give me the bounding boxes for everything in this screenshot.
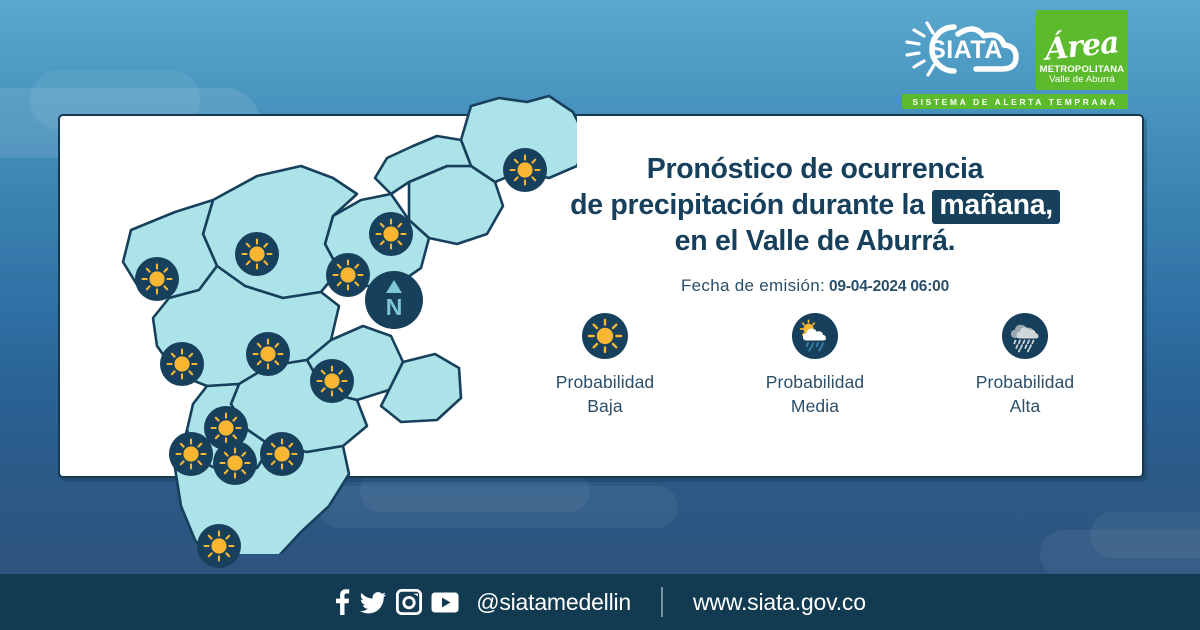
emission-value: 09-04-2024 06:00 bbox=[829, 278, 949, 295]
social-icons bbox=[334, 588, 459, 616]
page-title: Pronóstico de ocurrencia de precipitació… bbox=[500, 152, 1130, 260]
map-marker-10[interactable] bbox=[260, 432, 304, 476]
map-marker-4[interactable] bbox=[235, 232, 279, 276]
emission-label: Fecha de emisión: bbox=[681, 276, 825, 295]
legend-item-alta: Probabilidad Alta bbox=[935, 312, 1115, 418]
legend-alta-line2: Alta bbox=[1010, 396, 1041, 416]
map-marker-2[interactable] bbox=[369, 212, 413, 256]
logo-zone: SIATA Área METROPOLITANA Valle de Aburrá… bbox=[896, 8, 1136, 112]
map-marker-3[interactable] bbox=[326, 253, 370, 297]
legend-alta-line1: Probabilidad bbox=[976, 372, 1075, 392]
headline-line-2: de precipitación durante la mañana, bbox=[500, 188, 1130, 224]
legend-media-line2: Media bbox=[791, 396, 839, 416]
sun-icon bbox=[581, 312, 629, 360]
footer-bar: @siatamedellin www.siata.gov.co bbox=[0, 574, 1200, 630]
instagram-icon[interactable] bbox=[396, 589, 422, 615]
twitter-icon[interactable] bbox=[359, 588, 387, 616]
infographic-canvas: SIATA Área METROPOLITANA Valle de Aburrá… bbox=[0, 0, 1200, 630]
headline-line-2-text: de precipitación durante la bbox=[570, 189, 932, 221]
map-marker-5[interactable] bbox=[135, 257, 179, 301]
legend-label-baja: Probabilidad Baja bbox=[556, 371, 655, 418]
area-metropolitana-line2: Valle de Aburrá bbox=[1049, 75, 1115, 86]
area-metropolitana-logo: Área METROPOLITANA Valle de Aburrá bbox=[1036, 10, 1128, 90]
sun-cloud-rain-icon bbox=[791, 312, 839, 360]
headline-line-1: Pronóstico de ocurrencia bbox=[500, 152, 1130, 188]
map-marker-11[interactable] bbox=[213, 441, 257, 485]
forecast-panel: Pronóstico de ocurrencia de precipitació… bbox=[500, 152, 1130, 452]
legend-label-alta: Probabilidad Alta bbox=[976, 371, 1075, 418]
map-marker-8[interactable] bbox=[310, 359, 354, 403]
headline-highlight: mañana, bbox=[932, 190, 1060, 224]
youtube-icon[interactable] bbox=[431, 592, 459, 613]
compass-label: N bbox=[386, 294, 403, 320]
social-handle[interactable]: @siatamedellin bbox=[476, 589, 631, 616]
cloud-rain-icon bbox=[1001, 312, 1049, 360]
emission-date: Fecha de emisión:09-04-2024 06:00 bbox=[500, 276, 1130, 296]
map-marker-12[interactable] bbox=[169, 432, 213, 476]
legend-baja-line1: Probabilidad bbox=[556, 372, 655, 392]
map-marker-13[interactable] bbox=[197, 524, 241, 568]
alert-system-strip: SISTEMA DE ALERTA TEMPRANA bbox=[902, 94, 1128, 109]
map-marker-7[interactable] bbox=[160, 342, 204, 386]
map-marker-6[interactable] bbox=[246, 332, 290, 376]
legend-baja-line2: Baja bbox=[587, 396, 622, 416]
siata-logo-text: SIATA bbox=[929, 36, 1003, 64]
legend-item-baja: Probabilidad Baja bbox=[515, 312, 695, 418]
headline-line-3: en el Valle de Aburrá. bbox=[500, 224, 1130, 260]
siata-logo: SIATA bbox=[902, 14, 1030, 84]
legend-media-line1: Probabilidad bbox=[766, 372, 865, 392]
probability-legend: Probabilidad Baja bbox=[500, 312, 1130, 418]
area-script-text: Área bbox=[1044, 28, 1120, 66]
website-url[interactable]: www.siata.gov.co bbox=[693, 589, 866, 616]
background-cloud-6 bbox=[1090, 512, 1200, 558]
legend-item-media: Probabilidad Media bbox=[725, 312, 905, 418]
content-card: N Pronóstico de ocurrencia de precipitac… bbox=[58, 114, 1144, 478]
compass-north-icon: N bbox=[363, 269, 425, 331]
footer-divider bbox=[661, 587, 663, 617]
facebook-icon[interactable] bbox=[334, 588, 350, 616]
aburra-valley-map: N bbox=[57, 54, 577, 554]
legend-label-media: Probabilidad Media bbox=[766, 371, 865, 418]
